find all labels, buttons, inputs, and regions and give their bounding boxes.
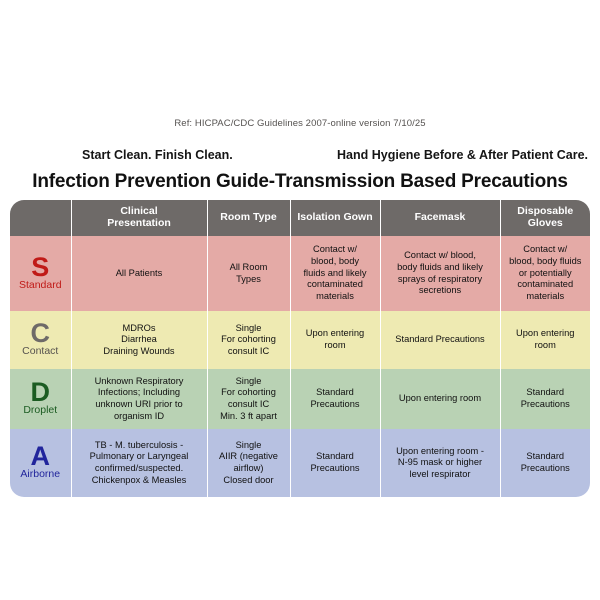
text-line: room: [294, 340, 377, 352]
cell-airborne-gown: Standard Precautions: [290, 429, 380, 497]
category-letter-contact: C: [10, 320, 71, 347]
cell-standard-gloves: Contact w/ blood, body fluids or potenti…: [500, 236, 590, 311]
text-line: MDROs: [75, 323, 204, 335]
page-title: Infection Prevention Guide-Transmission …: [0, 171, 600, 193]
cell-droplet-gown: Standard Precautions: [290, 369, 380, 429]
text-line: TB - M. tuberculosis -: [75, 440, 204, 452]
text-line: Pulmonary or Laryngeal: [75, 451, 204, 463]
text-line: organism ID: [75, 411, 204, 423]
cell-contact-clinical: MDROs Diarrhea Draining Wounds: [71, 311, 207, 369]
text-line: consult IC: [211, 346, 287, 358]
text-line: Standard: [294, 451, 377, 463]
category-word-standard: Standard: [10, 280, 71, 292]
text-line: Contact w/: [504, 244, 588, 256]
text-line: level respirator: [384, 469, 497, 481]
text-line: AIIR (negative: [211, 451, 287, 463]
text-line: body fluids and likely: [384, 262, 497, 274]
category-word-contact: Contact: [10, 346, 71, 358]
cell-contact-gloves: Upon entering room: [500, 311, 590, 369]
table-body: S Standard All Patients All Room Types C…: [10, 236, 590, 497]
text-line: Upon entering: [504, 328, 588, 340]
cell-contact-room: Single For cohorting consult IC: [207, 311, 290, 369]
text-line: Upon entering room -: [384, 446, 497, 458]
text-line: Diarrhea: [75, 334, 204, 346]
text-line: airflow): [211, 463, 287, 475]
text-line: Standard: [504, 387, 588, 399]
cell-droplet-clinical: Unknown Respiratory Infections; Includin…: [71, 369, 207, 429]
precautions-table-wrapper: Clinical Presentation Room Type Isolatio…: [10, 200, 590, 497]
cell-airborne-clinical: TB - M. tuberculosis - Pulmonary or Lary…: [71, 429, 207, 497]
cell-standard-gown: Contact w/ blood, body fluids and likely…: [290, 236, 380, 311]
table-row-airborne: A Airborne TB - M. tuberculosis - Pulmon…: [10, 429, 590, 497]
text-line: blood, body fluids: [504, 256, 588, 268]
text-line: For cohorting: [211, 387, 287, 399]
tagline-hand-hygiene: Hand Hygiene Before & After Patient Care…: [337, 148, 588, 162]
text-line: Single: [211, 323, 287, 335]
column-header-clinical-presentation: Clinical Presentation: [71, 200, 207, 236]
text-line: Single: [211, 440, 287, 452]
text-line: contaminated: [294, 279, 377, 291]
category-cell-droplet: D Droplet: [10, 369, 71, 429]
text-line: Contact w/ blood,: [384, 250, 497, 262]
text-line: All Room: [211, 262, 287, 274]
category-word-airborne: Airborne: [10, 469, 71, 481]
table-row-contact: C Contact MDROs Diarrhea Draining Wounds…: [10, 311, 590, 369]
category-letter-standard: S: [10, 254, 71, 281]
text-line: Types: [211, 274, 287, 286]
cell-standard-facemask: Contact w/ blood, body fluids and likely…: [380, 236, 500, 311]
category-letter-droplet: D: [10, 379, 71, 406]
text-line: contaminated: [504, 279, 588, 291]
text-line: Min. 3 ft apart: [211, 411, 287, 423]
category-letter-airborne: A: [10, 443, 71, 470]
cell-contact-gown: Upon entering room: [290, 311, 380, 369]
cell-airborne-facemask: Upon entering room - N-95 mask or higher…: [380, 429, 500, 497]
cell-airborne-gloves: Standard Precautions: [500, 429, 590, 497]
text-line: Upon entering room: [384, 393, 497, 405]
column-header-clinical-line2: Presentation: [75, 218, 204, 230]
text-line: Standard Precautions: [384, 334, 497, 346]
text-line: blood, body: [294, 256, 377, 268]
column-header-gloves-line2: Gloves: [504, 218, 588, 230]
category-word-droplet: Droplet: [10, 405, 71, 417]
cell-standard-room: All Room Types: [207, 236, 290, 311]
column-header-category: [10, 200, 71, 236]
cell-standard-clinical: All Patients: [71, 236, 207, 311]
text-line: fluids and likely: [294, 268, 377, 280]
column-header-isolation-gown: Isolation Gown: [290, 200, 380, 236]
cell-droplet-facemask: Upon entering room: [380, 369, 500, 429]
text-line: room: [504, 340, 588, 352]
cell-droplet-gloves: Standard Precautions: [500, 369, 590, 429]
text-line: Infections; Including: [75, 387, 204, 399]
table-row-standard: S Standard All Patients All Room Types C…: [10, 236, 590, 311]
category-cell-contact: C Contact: [10, 311, 71, 369]
table-header-row: Clinical Presentation Room Type Isolatio…: [10, 200, 590, 236]
text-line: N-95 mask or higher: [384, 457, 497, 469]
column-header-room-type: Room Type: [207, 200, 290, 236]
text-line: All Patients: [75, 268, 204, 280]
tagline-start-clean: Start Clean. Finish Clean.: [82, 148, 233, 162]
column-header-facemask: Facemask: [380, 200, 500, 236]
text-line: or potentially: [504, 268, 588, 280]
precautions-table: Clinical Presentation Room Type Isolatio…: [10, 200, 590, 497]
text-line: Standard: [294, 387, 377, 399]
text-line: Precautions: [294, 463, 377, 475]
text-line: Precautions: [294, 399, 377, 411]
category-cell-standard: S Standard: [10, 236, 71, 311]
text-line: Unknown Respiratory: [75, 376, 204, 388]
text-line: Closed door: [211, 475, 287, 487]
text-line: Contact w/: [294, 244, 377, 256]
text-line: Precautions: [504, 399, 588, 411]
reference-citation: Ref: HICPAC/CDC Guidelines 2007-online v…: [0, 118, 600, 129]
text-line: secretions: [384, 285, 497, 297]
text-line: materials: [294, 291, 377, 303]
category-cell-airborne: A Airborne: [10, 429, 71, 497]
text-line: Upon entering: [294, 328, 377, 340]
cell-contact-facemask: Standard Precautions: [380, 311, 500, 369]
text-line: sprays of respiratory: [384, 274, 497, 286]
text-line: unknown URI prior to: [75, 399, 204, 411]
table-row-droplet: D Droplet Unknown Respiratory Infections…: [10, 369, 590, 429]
text-line: Chickenpox & Measles: [75, 475, 204, 487]
text-line: confirmed/suspected.: [75, 463, 204, 475]
tagline-row: Start Clean. Finish Clean. Hand Hygiene …: [0, 148, 600, 168]
text-line: For cohorting: [211, 334, 287, 346]
cell-airborne-room: Single AIIR (negative airflow) Closed do…: [207, 429, 290, 497]
text-line: Draining Wounds: [75, 346, 204, 358]
infection-prevention-guide-page: Ref: HICPAC/CDC Guidelines 2007-online v…: [0, 0, 600, 600]
text-line: Single: [211, 376, 287, 388]
table-header: Clinical Presentation Room Type Isolatio…: [10, 200, 590, 236]
text-line: materials: [504, 291, 588, 303]
column-header-disposable-gloves: Disposable Gloves: [500, 200, 590, 236]
cell-droplet-room: Single For cohorting consult IC Min. 3 f…: [207, 369, 290, 429]
text-line: Standard: [504, 451, 588, 463]
text-line: consult IC: [211, 399, 287, 411]
text-line: Precautions: [504, 463, 588, 475]
